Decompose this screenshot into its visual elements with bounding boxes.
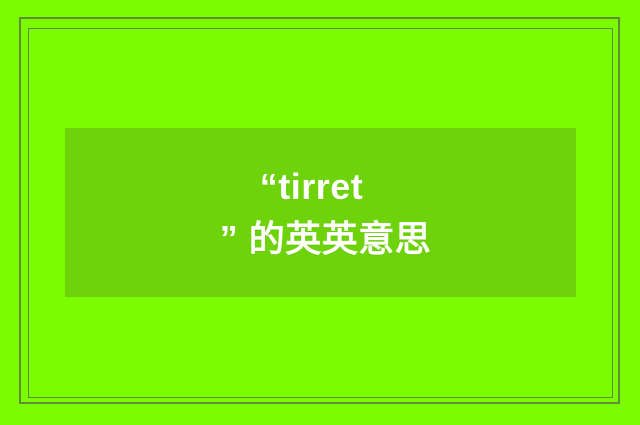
poster-canvas: “tirret ” 的英英意思 bbox=[0, 0, 640, 425]
title-line-1: “tirret bbox=[260, 161, 364, 213]
title-line-2: ” 的英英意思 bbox=[220, 213, 432, 265]
title-card-panel: “tirret ” 的英英意思 bbox=[65, 128, 576, 297]
